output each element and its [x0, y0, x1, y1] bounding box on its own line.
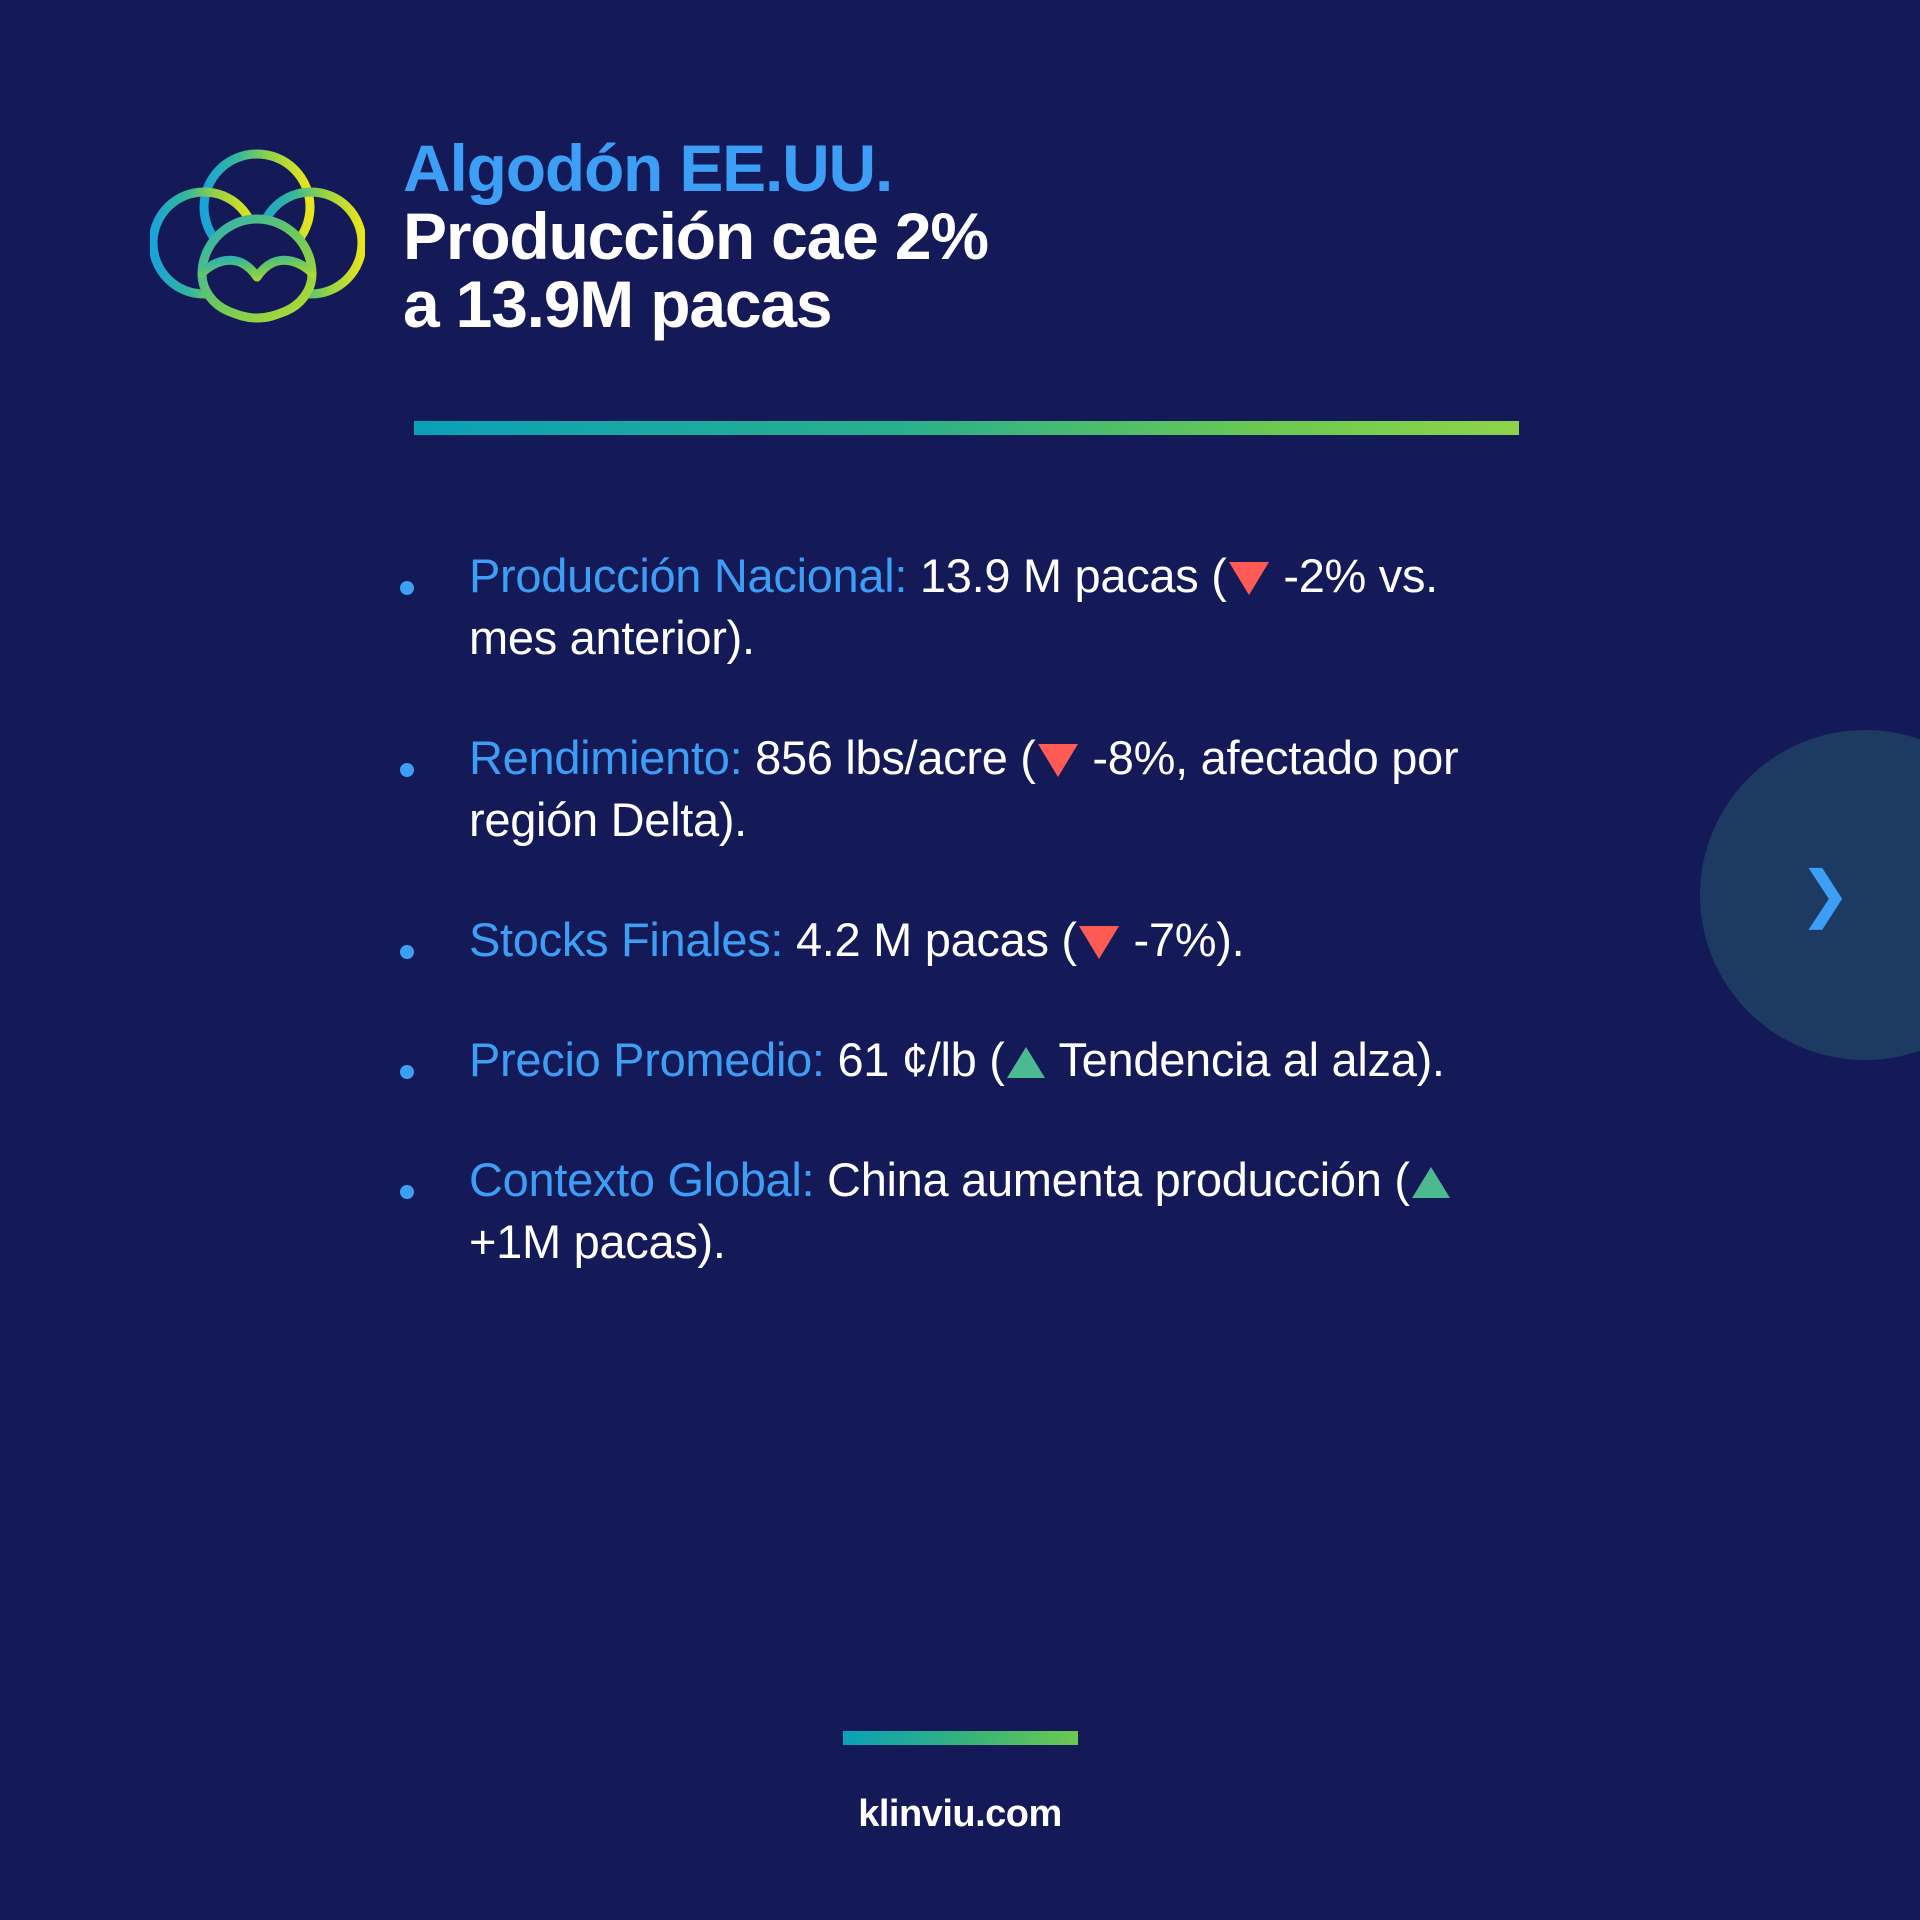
- list-item: Contexto Global: China aumenta producció…: [400, 1149, 1460, 1273]
- trend-up-icon: [1412, 1167, 1450, 1198]
- bullet-dot-icon: [400, 581, 414, 595]
- bullet-value-before: 4.2 M pacas (: [783, 913, 1077, 966]
- bullet-dot-icon: [400, 1185, 414, 1199]
- cotton-boll-icon: [150, 133, 365, 363]
- page-title-line2: Producción cae 2%: [403, 203, 988, 271]
- bullet-value-after: +1M pacas).: [469, 1215, 726, 1268]
- bullet-value-after: -7%).: [1121, 913, 1245, 966]
- page-title-primary: Algodón EE.UU.: [403, 135, 988, 203]
- footer: klinviu.com: [0, 1731, 1920, 1836]
- bullet-value-before: China aumenta producción (: [814, 1153, 1409, 1206]
- bullet-text: Producción Nacional: 13.9 M pacas ( -2% …: [469, 545, 1460, 669]
- list-item: Precio Promedio: 61 ¢/lb ( Tendencia al …: [400, 1029, 1460, 1091]
- bullet-value-before: 61 ¢/lb (: [825, 1033, 1005, 1086]
- bullet-dot-icon: [400, 1065, 414, 1079]
- list-item: Rendimiento: 856 lbs/acre ( -8%, afectad…: [400, 727, 1460, 851]
- list-item: Stocks Finales: 4.2 M pacas ( -7%).: [400, 909, 1460, 971]
- title-divider: [414, 421, 1519, 435]
- trend-down-icon: [1079, 926, 1119, 959]
- bullet-text: Stocks Finales: 4.2 M pacas ( -7%).: [469, 909, 1244, 971]
- bullet-list: Producción Nacional: 13.9 M pacas ( -2% …: [400, 545, 1460, 1331]
- trend-down-icon: [1229, 562, 1269, 595]
- bullet-label: Contexto Global:: [469, 1153, 814, 1206]
- bullet-dot-icon: [400, 945, 414, 959]
- bullet-text: Rendimiento: 856 lbs/acre ( -8%, afectad…: [469, 727, 1460, 851]
- trend-down-icon: [1038, 744, 1078, 777]
- slide-canvas: Algodón EE.UU. Producción cae 2% a 13.9M…: [0, 0, 1920, 1920]
- bullet-value-after: Tendencia al alza).: [1047, 1033, 1445, 1086]
- trend-up-icon: [1007, 1047, 1045, 1078]
- header: Algodón EE.UU. Producción cae 2% a 13.9M…: [150, 125, 988, 363]
- title-block: Algodón EE.UU. Producción cae 2% a 13.9M…: [403, 125, 988, 339]
- bullet-value-before: 13.9 M pacas (: [907, 549, 1226, 602]
- bullet-value-before: 856 lbs/acre (: [742, 731, 1035, 784]
- chevron-right-icon[interactable]: ❯: [1799, 864, 1851, 926]
- page-title-line3: a 13.9M pacas: [403, 271, 988, 339]
- bullet-text: Contexto Global: China aumenta producció…: [469, 1149, 1460, 1273]
- footer-divider: [843, 1731, 1078, 1745]
- bullet-text: Precio Promedio: 61 ¢/lb ( Tendencia al …: [469, 1029, 1445, 1091]
- bullet-label: Rendimiento:: [469, 731, 742, 784]
- bullet-label: Stocks Finales:: [469, 913, 783, 966]
- next-slide-button[interactable]: ❯: [1700, 730, 1920, 1060]
- brand-url: klinviu.com: [858, 1793, 1062, 1836]
- bullet-label: Precio Promedio:: [469, 1033, 825, 1086]
- bullet-label: Producción Nacional:: [469, 549, 907, 602]
- bullet-dot-icon: [400, 763, 414, 777]
- list-item: Producción Nacional: 13.9 M pacas ( -2% …: [400, 545, 1460, 669]
